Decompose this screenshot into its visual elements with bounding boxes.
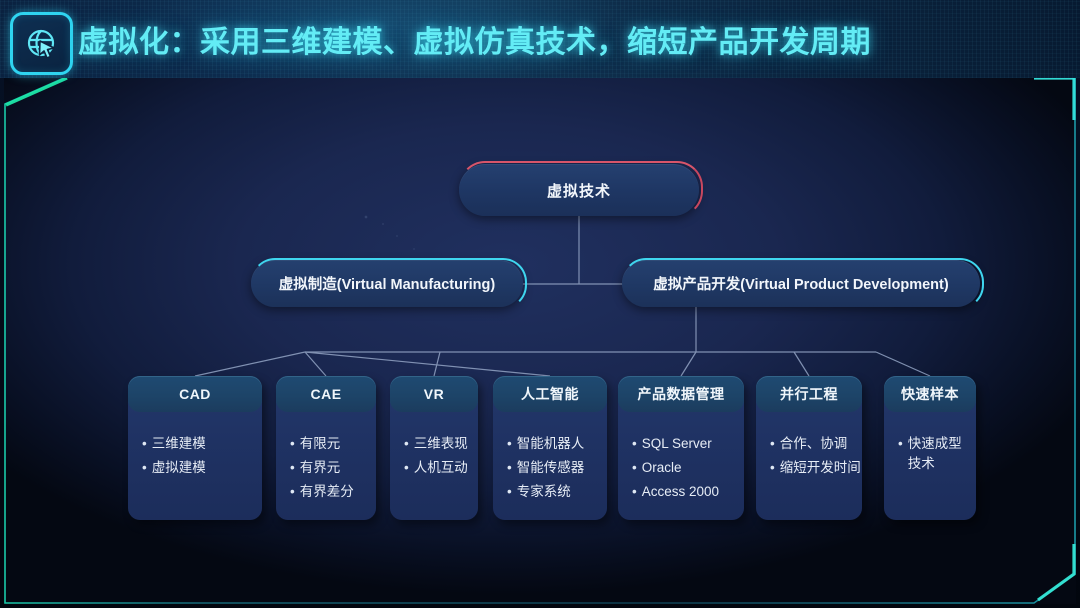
list-item: • 有限元 [290, 434, 376, 454]
list-item: • 智能机器人 [507, 434, 607, 454]
card-vr[interactable]: VR • 三维表现 • 人机互动 [390, 376, 478, 520]
list-item-label: 有界元 [300, 458, 341, 478]
bullet-icon: • [142, 458, 147, 478]
panel-frame [4, 74, 1076, 604]
card-body: • 合作、协调 • 缩短开发时间 [756, 412, 862, 482]
bullet-icon: • [404, 458, 409, 478]
bullet-icon: • [898, 434, 903, 454]
list-item: • SQL Server [632, 434, 744, 454]
card-product-data-management[interactable]: 产品数据管理 • SQL Server • Oracle • Access 20… [618, 376, 744, 520]
list-item: • 有界差分 [290, 482, 376, 502]
list-item-label: 三维建模 [152, 434, 206, 454]
list-item-label: 合作、协调 [780, 434, 848, 454]
list-item-label: 缩短开发时间 [780, 458, 861, 478]
card-title: 人工智能 [521, 384, 579, 404]
card-cae[interactable]: CAE • 有限元 • 有界元 • 有界差分 [276, 376, 376, 520]
card-body: • SQL Server • Oracle • Access 2000 [618, 412, 744, 506]
bullet-icon: • [290, 434, 295, 454]
list-item-label: 有界差分 [300, 482, 354, 502]
card-title: CAE [310, 386, 341, 402]
list-item: • 有界元 [290, 458, 376, 478]
card-rapid-prototyping[interactable]: 快速样本 • 快速成型 技术 [884, 376, 976, 520]
node-virtual-product-development-label: 虚拟产品开发(Virtual Product Development) [653, 273, 948, 294]
bullet-icon: • [507, 434, 512, 454]
card-body: • 快速成型 技术 [884, 412, 976, 478]
bullet-icon: • [507, 458, 512, 478]
list-item-label: 智能机器人 [517, 434, 585, 454]
node-virtual-manufacturing[interactable]: 虚拟制造(Virtual Manufacturing) [251, 260, 523, 307]
list-item-label: Oracle [642, 458, 682, 478]
card-body: • 有限元 • 有界元 • 有界差分 [276, 412, 376, 506]
card-title: VR [424, 386, 444, 402]
page-title: 虚拟化：采用三维建模、虚拟仿真技术，缩短产品开发周期 [78, 17, 871, 61]
card-title: 产品数据管理 [638, 384, 725, 404]
list-item: • 人机互动 [404, 458, 478, 478]
card-header: 产品数据管理 [618, 376, 744, 412]
node-root-label: 虚拟技术 [547, 180, 611, 201]
node-virtual-manufacturing-label: 虚拟制造(Virtual Manufacturing) [279, 273, 495, 294]
bullet-icon: • [632, 482, 637, 502]
card-cad[interactable]: CAD • 三维建模 • 虚拟建模 [128, 376, 262, 520]
bullet-icon: • [290, 458, 295, 478]
list-item-label: Access 2000 [642, 482, 719, 502]
slide-root: 虚拟技术 虚拟制造(Virtual Manufacturing) 虚拟产品开发(… [0, 0, 1080, 608]
list-item: • 合作、协调 [770, 434, 862, 454]
card-title: CAD [179, 386, 211, 402]
list-item-label: 三维表现 [414, 434, 468, 454]
list-item-label: 虚拟建模 [152, 458, 206, 478]
card-concurrent-engineering[interactable]: 并行工程 • 合作、协调 • 缩短开发时间 [756, 376, 862, 520]
card-header: CAD [128, 376, 262, 412]
list-item: • 三维建模 [142, 434, 262, 454]
bullet-icon: • [404, 434, 409, 454]
list-item: • 专家系统 [507, 482, 607, 502]
list-item-label: 智能传感器 [517, 458, 585, 478]
card-artificial-intelligence[interactable]: 人工智能 • 智能机器人 • 智能传感器 • 专家系统 [493, 376, 607, 520]
list-item: • 缩短开发时间 [770, 458, 862, 478]
list-item: • 快速成型 技术 [898, 434, 976, 474]
card-title: 并行工程 [780, 384, 838, 404]
card-header: CAE [276, 376, 376, 412]
node-root[interactable]: 虚拟技术 [459, 164, 699, 216]
bullet-icon: • [507, 482, 512, 502]
bullet-icon: • [142, 434, 147, 454]
card-body: • 三维表现 • 人机互动 [390, 412, 478, 482]
card-header: 并行工程 [756, 376, 862, 412]
card-body: • 三维建模 • 虚拟建模 [128, 412, 262, 482]
card-body: • 智能机器人 • 智能传感器 • 专家系统 [493, 412, 607, 506]
list-item-label: 人机互动 [414, 458, 468, 478]
list-item-label: SQL Server [642, 434, 712, 454]
list-item: • Oracle [632, 458, 744, 478]
bullet-icon: • [632, 434, 637, 454]
bullet-icon: • [770, 458, 775, 478]
bullet-icon: • [632, 458, 637, 478]
list-item: • 智能传感器 [507, 458, 607, 478]
list-item-label: 专家系统 [517, 482, 571, 502]
globe-cursor-icon [10, 12, 73, 75]
list-item-label: 快速成型 技术 [908, 434, 962, 474]
node-virtual-product-development[interactable]: 虚拟产品开发(Virtual Product Development) [622, 260, 980, 307]
list-item: • Access 2000 [632, 482, 744, 502]
card-header: 快速样本 [884, 376, 976, 412]
list-item-label: 有限元 [300, 434, 341, 454]
card-header: 人工智能 [493, 376, 607, 412]
card-title: 快速样本 [901, 384, 959, 404]
list-item: • 三维表现 [404, 434, 478, 454]
card-header: VR [390, 376, 478, 412]
bullet-icon: • [770, 434, 775, 454]
bullet-icon: • [290, 482, 295, 502]
list-item: • 虚拟建模 [142, 458, 262, 478]
